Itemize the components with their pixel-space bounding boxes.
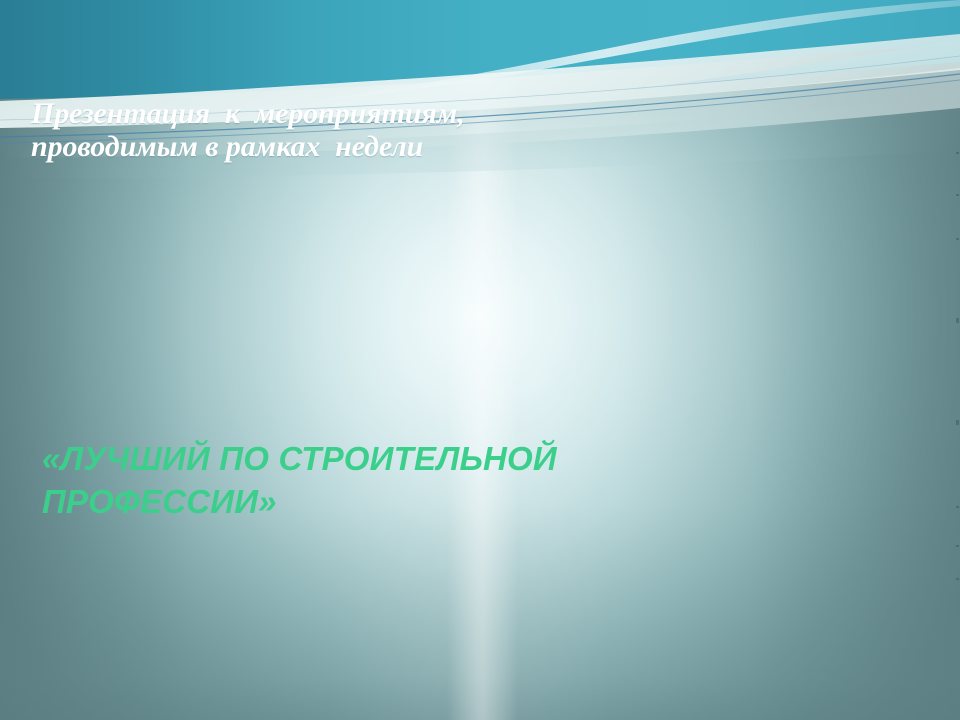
slide-title-line-2: проводимым в рамках недели [31, 130, 731, 163]
slide-title: Презентация к мероприятиям, проводимым в… [31, 97, 731, 163]
presentation-slide: Презентация к мероприятиям, проводимым в… [0, 0, 960, 720]
slide-subtitle: «ЛУЧШИЙ ПО СТРОИТЕЛЬНОЙ ПРОФЕССИИ» [42, 437, 762, 523]
slide-subtitle-line-1: «ЛУЧШИЙ ПО СТРОИТЕЛЬНОЙ [42, 437, 762, 480]
slide-title-line-1: Презентация к мероприятиям, [31, 97, 731, 130]
slide-subtitle-line-2: ПРОФЕССИИ» [42, 480, 762, 523]
